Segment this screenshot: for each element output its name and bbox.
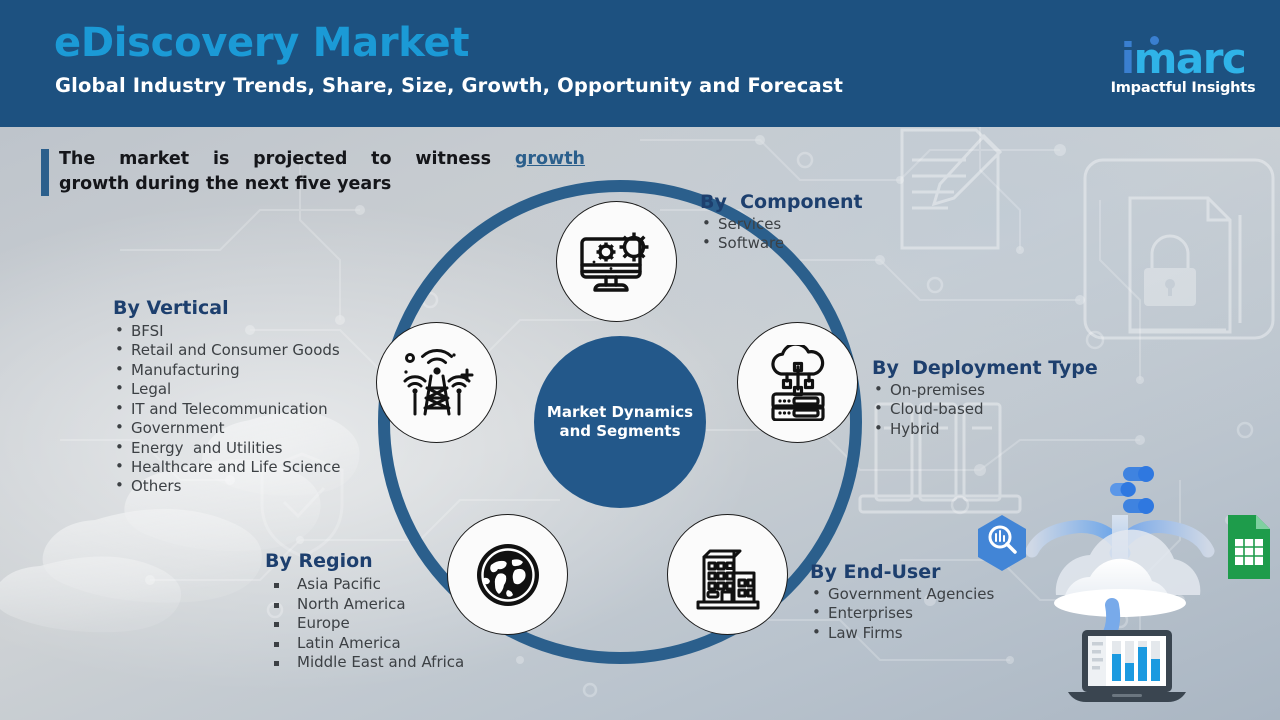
- search-hexagon-icon: [978, 515, 1026, 571]
- node-region[interactable]: [447, 514, 568, 635]
- list-item: Manufacturing: [113, 361, 340, 380]
- node-component[interactable]: [556, 201, 677, 322]
- monitor-gears-icon: [578, 225, 656, 299]
- list-item: Services: [700, 215, 863, 234]
- list-item: Asia Pacific: [265, 575, 464, 595]
- list-item: Europe: [265, 614, 464, 634]
- laptop-chart-icon: [1068, 630, 1186, 702]
- segment-vertical: By Vertical BFSI Retail and Consumer Goo…: [113, 297, 340, 497]
- list-item: Hybrid: [872, 420, 1098, 439]
- lead-line-1: The market is projected to witness growt…: [59, 147, 585, 172]
- node-vertical[interactable]: [376, 322, 497, 443]
- office-building-icon: [692, 540, 764, 610]
- logo-wordmark: imarc: [1098, 38, 1268, 80]
- lead-phrase: The market is projected to witness: [59, 149, 491, 169]
- lead-line-2: growth during the next five years: [59, 174, 391, 194]
- segment-vertical-title: By Vertical: [113, 297, 340, 319]
- segment-region-title: By Region: [265, 550, 464, 572]
- segment-deployment-list: On-premises Cloud-based Hybrid: [872, 381, 1098, 439]
- header-banner: eDiscovery Market Global Industry Trends…: [0, 0, 1280, 127]
- segment-deployment: By Deployment Type On-premises Cloud-bas…: [872, 357, 1098, 439]
- list-item: Middle East and Africa: [265, 653, 464, 673]
- list-item: On-premises: [872, 381, 1098, 400]
- list-item: Others: [113, 477, 340, 496]
- accent-bar: [41, 149, 49, 196]
- list-item: Government: [113, 419, 340, 438]
- hub-label: Market Dynamics and Segments: [547, 403, 693, 441]
- lead-text: The market is projected to witness growt…: [59, 147, 601, 197]
- cloud-analytics-illustration: [960, 455, 1280, 720]
- node-deployment[interactable]: [737, 322, 858, 443]
- lead-statement: The market is projected to witness growt…: [41, 147, 601, 197]
- logo-letters-marc: marc: [1134, 34, 1246, 83]
- node-enduser[interactable]: [667, 514, 788, 635]
- list-item: Software: [700, 234, 863, 253]
- segment-region-list: Asia Pacific North America Europe Latin …: [265, 575, 464, 673]
- infographic-page: eDiscovery Market Global Industry Trends…: [0, 0, 1280, 720]
- imarc-logo: imarc Impactful Insights: [1098, 22, 1268, 102]
- cloud-server-icon: [761, 345, 835, 421]
- list-item: Legal: [113, 380, 340, 399]
- list-item: Cloud-based: [872, 400, 1098, 419]
- data-dots-icon: [1110, 466, 1154, 514]
- segment-region: By Region Asia Pacific North America Eur…: [265, 550, 464, 673]
- segment-component-title: By Component: [700, 191, 863, 213]
- page-title: eDiscovery Market: [54, 22, 469, 64]
- broadcast-tower-icon: [397, 346, 477, 420]
- list-item: BFSI: [113, 322, 340, 341]
- list-item: IT and Telecommunication: [113, 400, 340, 419]
- segment-vertical-list: BFSI Retail and Consumer Goods Manufactu…: [113, 322, 340, 497]
- segment-component: By Component Services Software: [700, 191, 863, 254]
- growth-link[interactable]: growth: [515, 149, 585, 169]
- cloud-shape: [1054, 530, 1200, 617]
- logo-tagline: Impactful Insights: [1098, 80, 1268, 96]
- wheel-hub: Market Dynamics and Segments: [534, 336, 706, 508]
- list-item: North America: [265, 595, 464, 615]
- logo-letter-i: i: [1121, 34, 1134, 83]
- spreadsheet-file-icon: [1228, 515, 1270, 579]
- list-item: Retail and Consumer Goods: [113, 341, 340, 360]
- segment-deployment-title: By Deployment Type: [872, 357, 1098, 379]
- page-subtitle: Global Industry Trends, Share, Size, Gro…: [55, 74, 843, 97]
- globe-icon: [471, 538, 545, 612]
- list-item: Latin America: [265, 634, 464, 654]
- list-item: Energy and Utilities: [113, 439, 340, 458]
- segment-component-list: Services Software: [700, 215, 863, 254]
- list-item: Healthcare and Life Science: [113, 458, 340, 477]
